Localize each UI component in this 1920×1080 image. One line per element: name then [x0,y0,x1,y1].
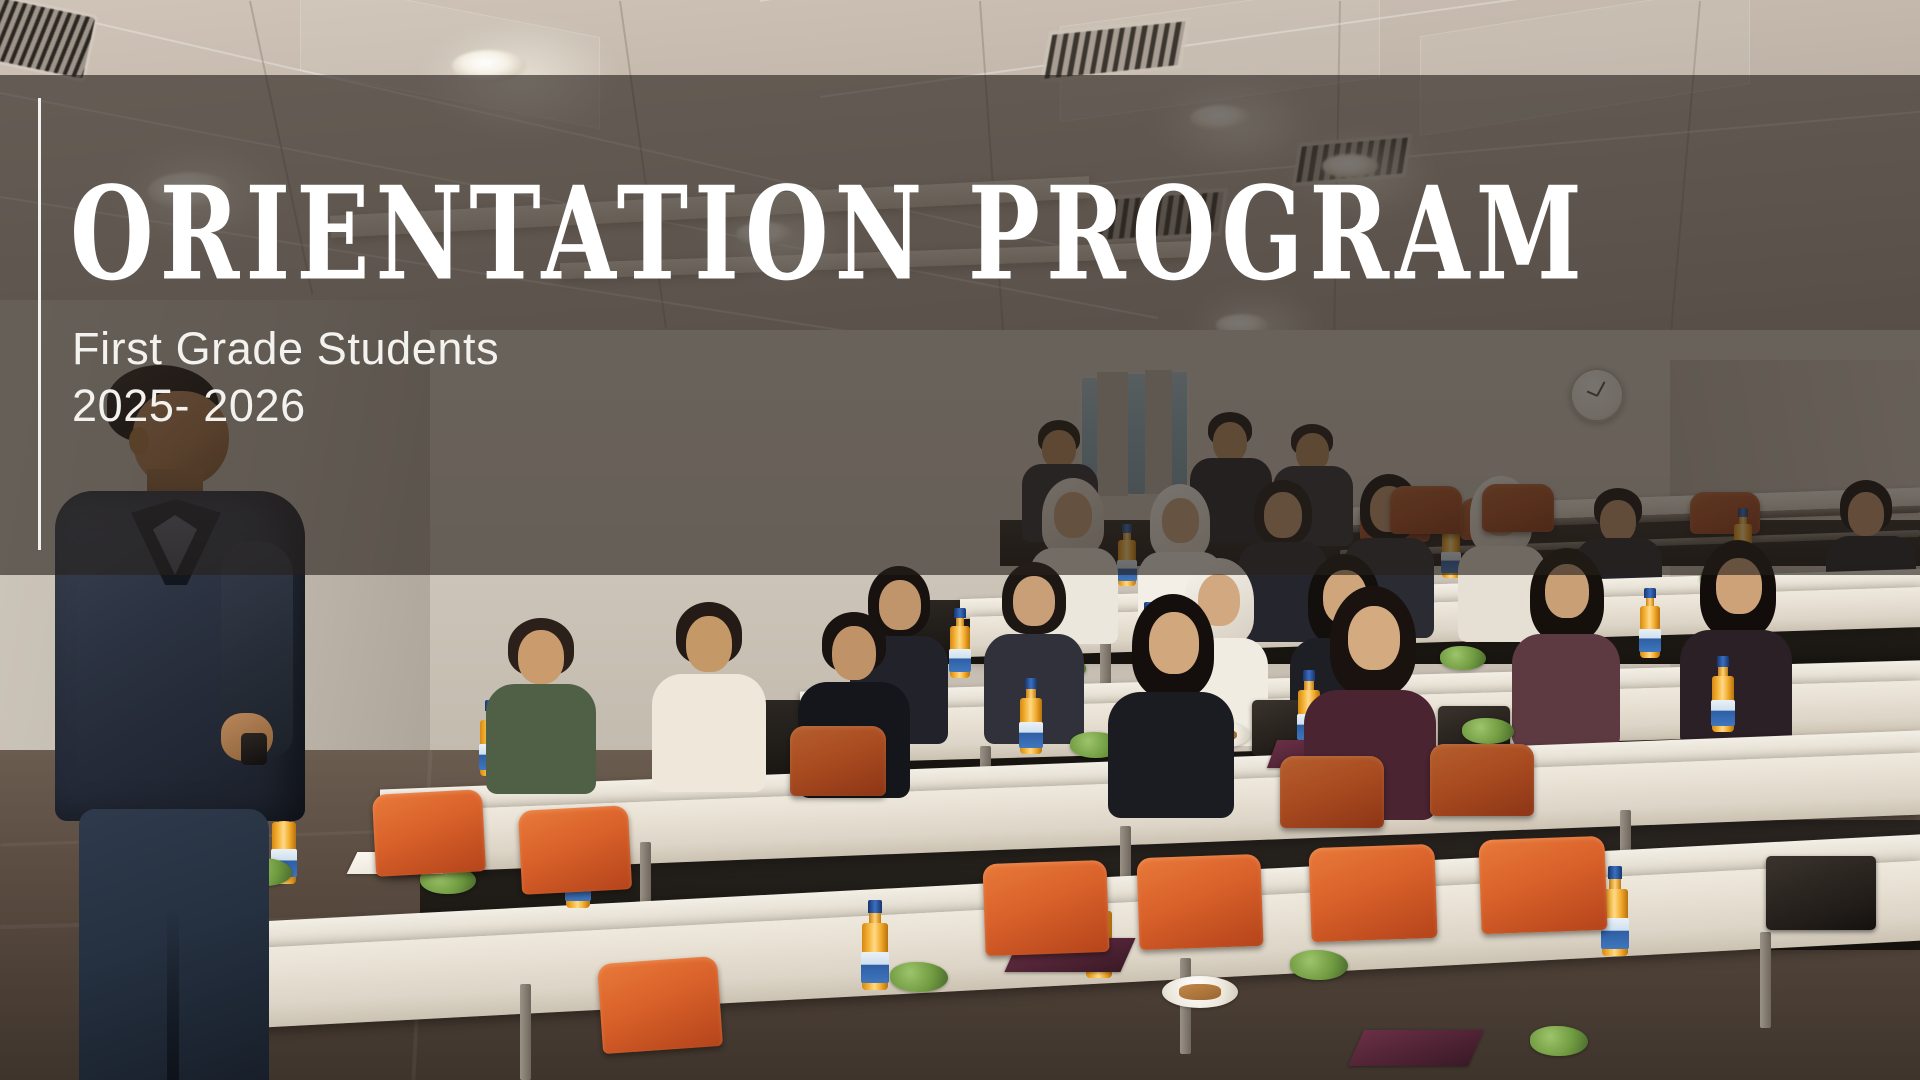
snack-pack [1440,646,1486,670]
slide-stage: ORIENTATION PROGRAM First Grade Students… [0,0,1920,1080]
subtitle-block: First Grade Students 2025- 2026 [72,320,499,434]
subtitle-academic-year: 2025- 2026 [72,377,499,434]
program-leaflet [1348,1030,1484,1066]
pastry-plate [1162,976,1238,1008]
chair [1136,854,1263,950]
presenter-trouser-seam [167,905,179,1080]
chair [790,726,886,796]
chair [372,789,486,877]
snack-pack [890,962,948,992]
juice-bottle [1020,678,1042,754]
chair [1430,744,1534,816]
chair [597,956,723,1054]
chair [982,860,1109,956]
chair [1308,844,1437,942]
juice-bottle [862,900,888,990]
accent-vertical-rule [38,98,41,550]
subtitle-audience: First Grade Students [72,320,499,377]
title-block: ORIENTATION PROGRAM [70,170,1670,266]
chair [518,805,632,895]
juice-bottle [1712,656,1734,732]
snack-pack [1290,950,1348,980]
juice-bottle [950,608,970,678]
page-title: ORIENTATION PROGRAM [70,170,1670,299]
juice-bottle [1640,588,1660,658]
presenter-clicker [241,733,267,765]
chair [1478,836,1607,934]
handbag [1766,856,1876,930]
snack-pack [1530,1026,1588,1056]
chair [1280,756,1384,828]
snack-pack [1462,718,1514,744]
